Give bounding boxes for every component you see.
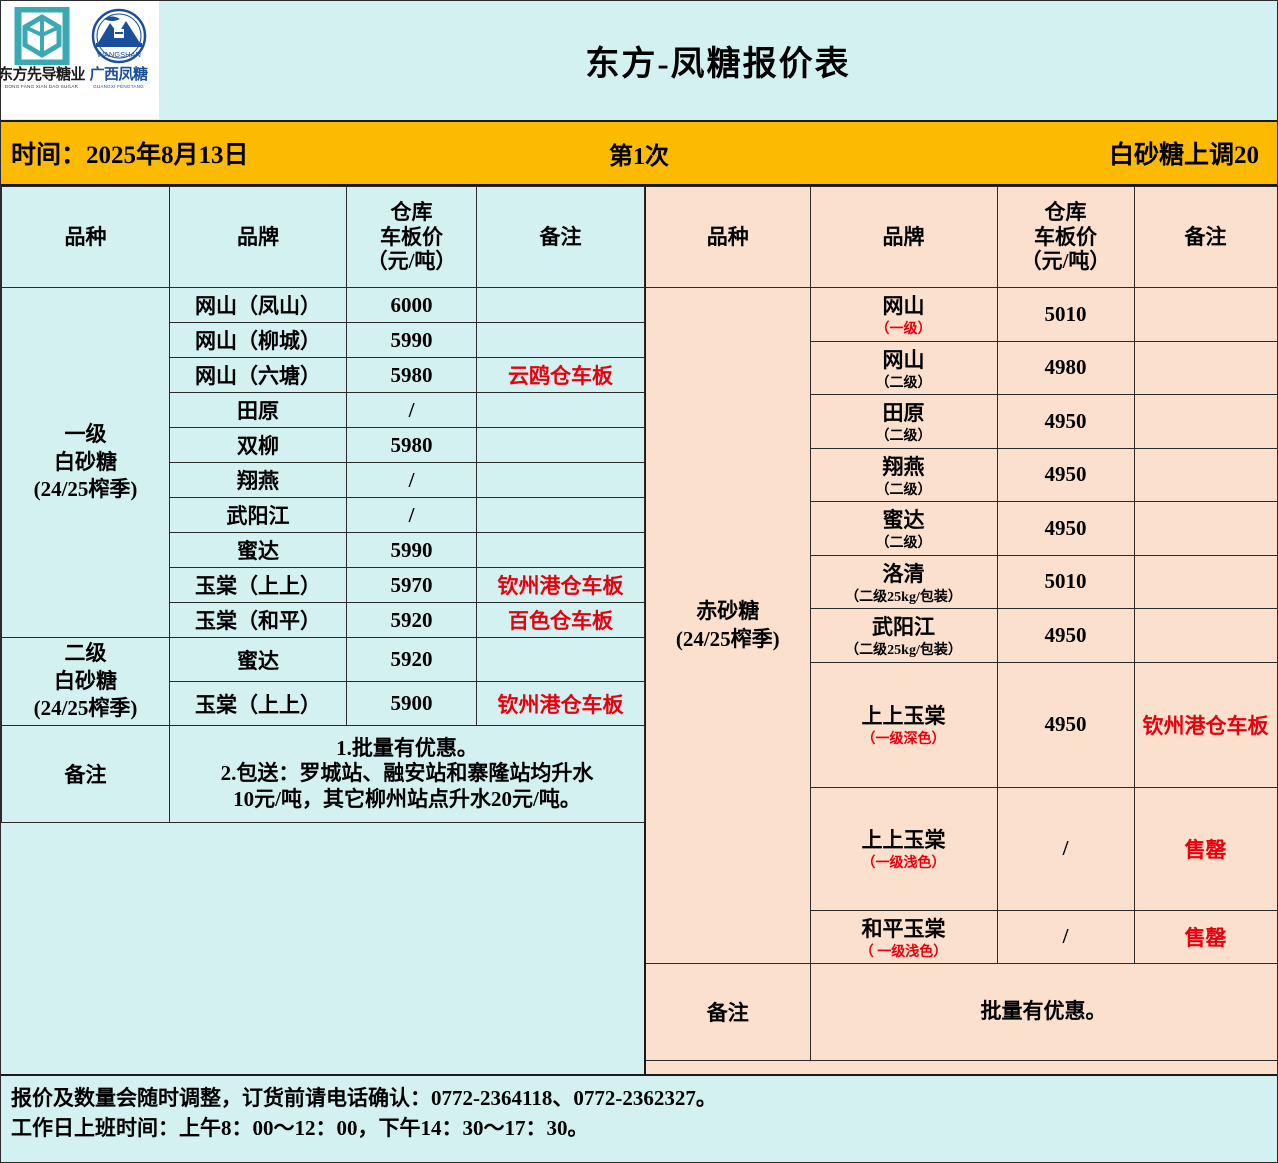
brand-sub: （二级） — [814, 375, 994, 393]
col-header-price-line3: （元/吨） — [1021, 249, 1111, 273]
brand-cell: 和平玉棠 （ 一级浅色） — [810, 910, 997, 964]
price-cell: 4980 — [997, 341, 1134, 395]
price-cell: 4950 — [997, 502, 1134, 556]
remark-cell — [1134, 395, 1277, 449]
remark-cell: 钦州港仓车板 — [477, 568, 645, 603]
remark-cell — [1134, 288, 1277, 342]
category-line3: (24/25榨季) — [34, 696, 138, 720]
remark-cell: 钦州港仓车板 — [477, 682, 645, 726]
remark-cell — [477, 463, 645, 498]
brand-sub: （二级） — [814, 428, 994, 446]
category-line1: 赤砂糖 — [696, 599, 759, 623]
brand-cell: 武阳江 （二级25kg/包装） — [810, 609, 997, 663]
table-row: 赤砂糖 (24/25榨季) 网山 （一级） 5010 — [646, 288, 1277, 342]
price-cell: / — [347, 463, 477, 498]
price-cell: 5010 — [997, 288, 1134, 342]
price-cell: 5920 — [347, 603, 477, 638]
price-cell: 5980 — [347, 358, 477, 393]
brand-cell: 玉棠（上上） — [170, 682, 347, 726]
brand-sub: （二级） — [814, 535, 994, 553]
price-cell: 4950 — [997, 662, 1134, 787]
category-cell-grade1: 一级 白砂糖 (24/25榨季) — [2, 288, 170, 638]
brand-cell: 田原 — [170, 393, 347, 428]
remark-cell: 百色仓车板 — [477, 603, 645, 638]
brand-name: 上上玉棠 — [862, 704, 946, 728]
price-cell: / — [347, 498, 477, 533]
brand-cell: 玉棠（上上） — [170, 568, 347, 603]
category-line2: (24/25榨季) — [676, 627, 780, 651]
note-body: 批量有优惠。 — [810, 964, 1277, 1061]
remark-cell — [477, 638, 645, 682]
price-cell: 5990 — [347, 323, 477, 358]
logo-fengtang-en: GUANGXI FENGTANG — [93, 84, 144, 89]
brand-cell: 网山（柳城） — [170, 323, 347, 358]
price-cell: 5900 — [347, 682, 477, 726]
table-header-row: 品种 品牌 仓库 车板价 （元/吨） 备注 — [2, 187, 645, 288]
remark-cell — [477, 498, 645, 533]
brand-cell: 网山 （二级） — [810, 341, 997, 395]
price-cell: 6000 — [347, 288, 477, 323]
brand-name: 网山 — [883, 294, 925, 318]
brand-cell: 蜜达 — [170, 533, 347, 568]
brand-cell: 田原 （二级） — [810, 395, 997, 449]
date-bar: 时间：2025年8月13日 第1次 白砂糖上调20 — [1, 122, 1277, 186]
remark-cell — [477, 428, 645, 463]
brown-sugar-table-panel: 品种 品牌 仓库 车板价 （元/吨） 备注 赤砂糖 (24/25榨季) — [646, 186, 1277, 1074]
remark-cell — [477, 533, 645, 568]
price-cell: 4950 — [997, 395, 1134, 449]
remark-cell — [1134, 341, 1277, 395]
brand-name: 田原 — [883, 401, 925, 425]
brown-sugar-table: 品种 品牌 仓库 车板价 （元/吨） 备注 赤砂糖 (24/25榨季) — [646, 186, 1278, 1061]
category-line3: (24/25榨季) — [34, 477, 138, 501]
remark-cell — [1134, 555, 1277, 609]
col-header-remark: 备注 — [477, 187, 645, 288]
price-cell: 5920 — [347, 638, 477, 682]
brand-sub: （二级） — [814, 482, 994, 500]
remark-cell — [477, 288, 645, 323]
brand-name: 武阳江 — [872, 615, 935, 639]
col-header-price: 仓库 车板价 （元/吨） — [347, 187, 477, 288]
footer-line-2: 工作日上班时间：上午8：00～12：00，下午14：30～17：30。 — [11, 1114, 1267, 1144]
price-cell: 4950 — [997, 448, 1134, 502]
logo-fengtang-cn: 广西凤糖 — [89, 67, 147, 83]
col-header-price-line1: 仓库 — [1045, 200, 1087, 224]
price-cell: 5980 — [347, 428, 477, 463]
logo-fengtang: WANGSHAN 广西凤糖 GUANGXI FENGTANG — [82, 5, 156, 89]
category-line1: 二级 — [65, 641, 107, 665]
brand-name: 洛清 — [883, 562, 925, 586]
brand-cell: 翔燕 — [170, 463, 347, 498]
brand-cell: 网山（六塘） — [170, 358, 347, 393]
brand-cell: 上上玉棠 （一级浅色） — [810, 787, 997, 910]
price-cell: / — [347, 393, 477, 428]
note-body: 1.批量有优惠。 2.包送：罗城站、融安站和寨隆站均升水 10元/吨，其它柳州站… — [170, 726, 645, 823]
brand-sub: （一级） — [814, 321, 994, 339]
price-cell: / — [997, 910, 1134, 964]
white-sugar-table: 品种 品牌 仓库 车板价 （元/吨） 备注 一级 白砂糖 — [1, 186, 645, 823]
col-header-price-line3: （元/吨） — [367, 249, 457, 273]
logo-dongfang-cn: 东方先导糖业 — [0, 67, 85, 83]
note-label: 备注 — [646, 964, 810, 1061]
remark-cell: 钦州港仓车板 — [1134, 662, 1277, 787]
brand-name: 上上玉棠 — [862, 828, 946, 852]
hexagon-sugar-logo-icon — [14, 5, 70, 67]
price-adjustment-note: 白砂糖上调20 — [1109, 135, 1259, 171]
col-header-price-line2: 车板价 — [1034, 225, 1097, 249]
brand-cell: 蜜达 （二级） — [810, 502, 997, 556]
remark-cell: 云鸥仓车板 — [477, 358, 645, 393]
wangshan-mountain-seal-logo-icon: WANGSHAN — [90, 5, 148, 67]
price-cell: 4950 — [997, 609, 1134, 663]
brand-sub: （一级浅色） — [814, 855, 994, 873]
remark-cell — [477, 393, 645, 428]
category-line2: 白砂糖 — [54, 450, 117, 474]
table-header-row: 品种 品牌 仓库 车板价 （元/吨） 备注 — [646, 187, 1277, 288]
category-line1: 一级 — [65, 422, 107, 446]
note-line-1: 批量有优惠。 — [814, 999, 1274, 1025]
quote-sheet-page: 东方先导糖业 DONG FANG XIAN DAO SUGAR WANGSHAN — [0, 0, 1278, 1163]
white-sugar-table-panel: 品种 品牌 仓库 车板价 （元/吨） 备注 一级 白砂糖 — [1, 186, 646, 1074]
col-header-remark: 备注 — [1134, 187, 1277, 288]
logo-dongfang-en: DONG FANG XIAN DAO SUGAR — [5, 84, 78, 89]
header-band: 东方先导糖业 DONG FANG XIAN DAO SUGAR WANGSHAN — [1, 1, 1277, 122]
brand-cell: 洛清 （二级25kg/包装） — [810, 555, 997, 609]
category-cell-grade2: 二级 白砂糖 (24/25榨季) — [2, 638, 170, 726]
brand-cell: 翔燕 （二级） — [810, 448, 997, 502]
col-header-brand: 品牌 — [170, 187, 347, 288]
note-label: 备注 — [2, 726, 170, 823]
col-header-variety: 品种 — [2, 187, 170, 288]
note-line-1: 1.批量有优惠。 — [173, 736, 641, 762]
remark-cell: 售罄 — [1134, 787, 1277, 910]
brand-cell: 网山（凤山） — [170, 288, 347, 323]
table-row: 二级 白砂糖 (24/25榨季) 蜜达 5920 — [2, 638, 645, 682]
quote-round: 第1次 — [1, 136, 1277, 171]
note-line-2: 2.包送：罗城站、融安站和寨隆站均升水 — [173, 761, 641, 787]
logo-dongfang: 东方先导糖业 DONG FANG XIAN DAO SUGAR — [5, 5, 79, 89]
category-cell-brown-sugar: 赤砂糖 (24/25榨季) — [646, 288, 810, 964]
brand-name: 蜜达 — [883, 508, 925, 532]
col-header-variety: 品种 — [646, 187, 810, 288]
brand-cell: 双柳 — [170, 428, 347, 463]
remark-cell: 售罄 — [1134, 910, 1277, 964]
category-line2: 白砂糖 — [54, 669, 117, 693]
brand-name: 网山 — [883, 348, 925, 372]
note-row: 备注 1.批量有优惠。 2.包送：罗城站、融安站和寨隆站均升水 10元/吨，其它… — [2, 726, 645, 823]
brand-sub: （ 一级浅色） — [814, 944, 994, 962]
brand-name: 和平玉棠 — [862, 917, 946, 941]
brand-cell: 武阳江 — [170, 498, 347, 533]
remark-cell — [1134, 448, 1277, 502]
page-title: 东方-凤糖报价表 — [159, 1, 1277, 119]
remark-cell — [1134, 609, 1277, 663]
col-header-price-line1: 仓库 — [391, 200, 433, 224]
brand-cell: 网山 （一级） — [810, 288, 997, 342]
brand-cell: 上上玉棠 （一级深色） — [810, 662, 997, 787]
col-header-price: 仓库 车板价 （元/吨） — [997, 187, 1134, 288]
footer-line-1: 报价及数量会随时调整，订货前请电话确认：0772-2364118、0772-23… — [11, 1084, 1267, 1114]
brand-sub: （二级25kg/包装） — [814, 589, 994, 607]
col-header-price-line2: 车板价 — [380, 225, 443, 249]
price-cell: 5010 — [997, 555, 1134, 609]
brand-sub: （二级25kg/包装） — [814, 642, 994, 660]
remark-cell — [1134, 502, 1277, 556]
tables-container: 品种 品牌 仓库 车板价 （元/吨） 备注 一级 白砂糖 — [1, 186, 1277, 1074]
remark-cell — [477, 323, 645, 358]
note-line-3: 10元/吨，其它柳州站点升水20元/吨。 — [173, 787, 641, 813]
brand-sub: （一级深色） — [814, 731, 994, 749]
brand-name: 翔燕 — [883, 455, 925, 479]
company-logos: 东方先导糖业 DONG FANG XIAN DAO SUGAR WANGSHAN — [1, 1, 159, 119]
price-cell: / — [997, 787, 1134, 910]
price-cell: 5970 — [347, 568, 477, 603]
footer-contact-block: 报价及数量会随时调整，订货前请电话确认：0772-2364118、0772-23… — [1, 1074, 1277, 1158]
svg-text:WANGSHAN: WANGSHAN — [97, 50, 141, 59]
col-header-brand: 品牌 — [810, 187, 997, 288]
note-row: 备注 批量有优惠。 — [646, 964, 1277, 1061]
table-row: 一级 白砂糖 (24/25榨季) 网山（凤山） 6000 — [2, 288, 645, 323]
brand-cell: 玉棠（和平） — [170, 603, 347, 638]
brand-cell: 蜜达 — [170, 638, 347, 682]
price-cell: 5990 — [347, 533, 477, 568]
